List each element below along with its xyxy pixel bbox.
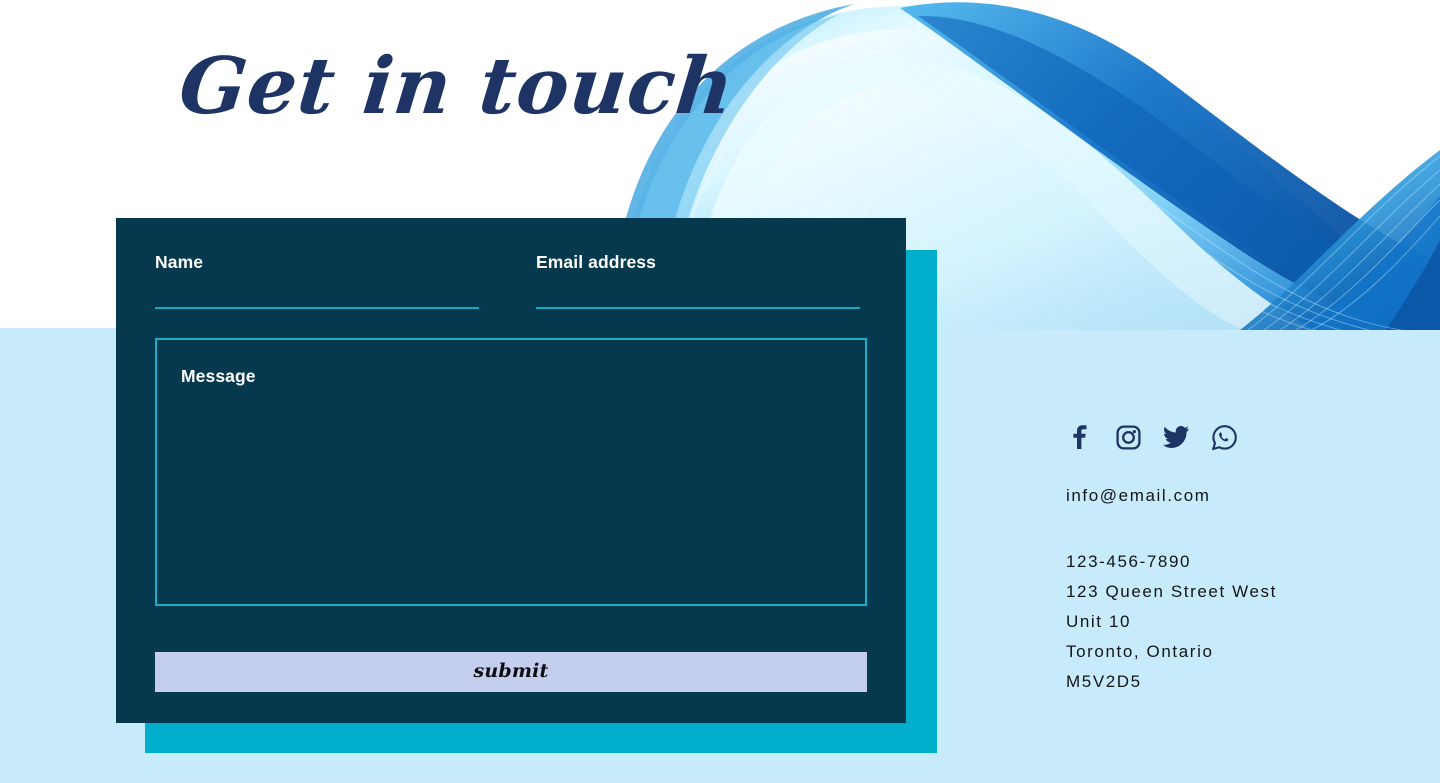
facebook-icon [1070,425,1090,449]
social-links-row [1066,418,1396,456]
contact-info-column: info@email.com 123-456-7890 123 Queen St… [1066,418,1396,697]
address-line-street: 123 Queen Street West [1066,577,1396,607]
contact-email[interactable]: info@email.com [1066,485,1396,507]
contact-address: 123-456-7890 123 Queen Street West Unit … [1066,547,1396,697]
submit-button-label: submit [473,660,548,682]
address-line-postal: M5V2D5 [1066,667,1396,697]
email-input[interactable] [536,277,860,309]
field-message [155,338,867,606]
instagram-icon [1116,425,1141,450]
field-name: Name [155,254,479,309]
page-stage: Get in touch Name Email address submit [0,0,1440,783]
page-title: Get in touch [176,48,738,126]
address-line-phone: 123-456-7890 [1066,547,1396,577]
form-field-row: Name Email address [155,254,867,309]
whatsapp-link[interactable] [1210,423,1238,451]
address-line-unit: Unit 10 [1066,607,1396,637]
instagram-link[interactable] [1114,423,1142,451]
facebook-link[interactable] [1066,423,1094,451]
field-email: Email address [536,254,860,309]
contact-form: Name Email address submit [116,218,906,723]
address-line-city: Toronto, Ontario [1066,637,1396,667]
whatsapp-icon [1212,425,1237,450]
twitter-link[interactable] [1162,423,1190,451]
submit-button[interactable]: submit [155,652,867,692]
name-label: Name [155,254,479,277]
twitter-icon [1163,426,1189,448]
email-label: Email address [536,254,860,277]
name-input[interactable] [155,277,479,309]
message-input[interactable] [155,338,867,606]
